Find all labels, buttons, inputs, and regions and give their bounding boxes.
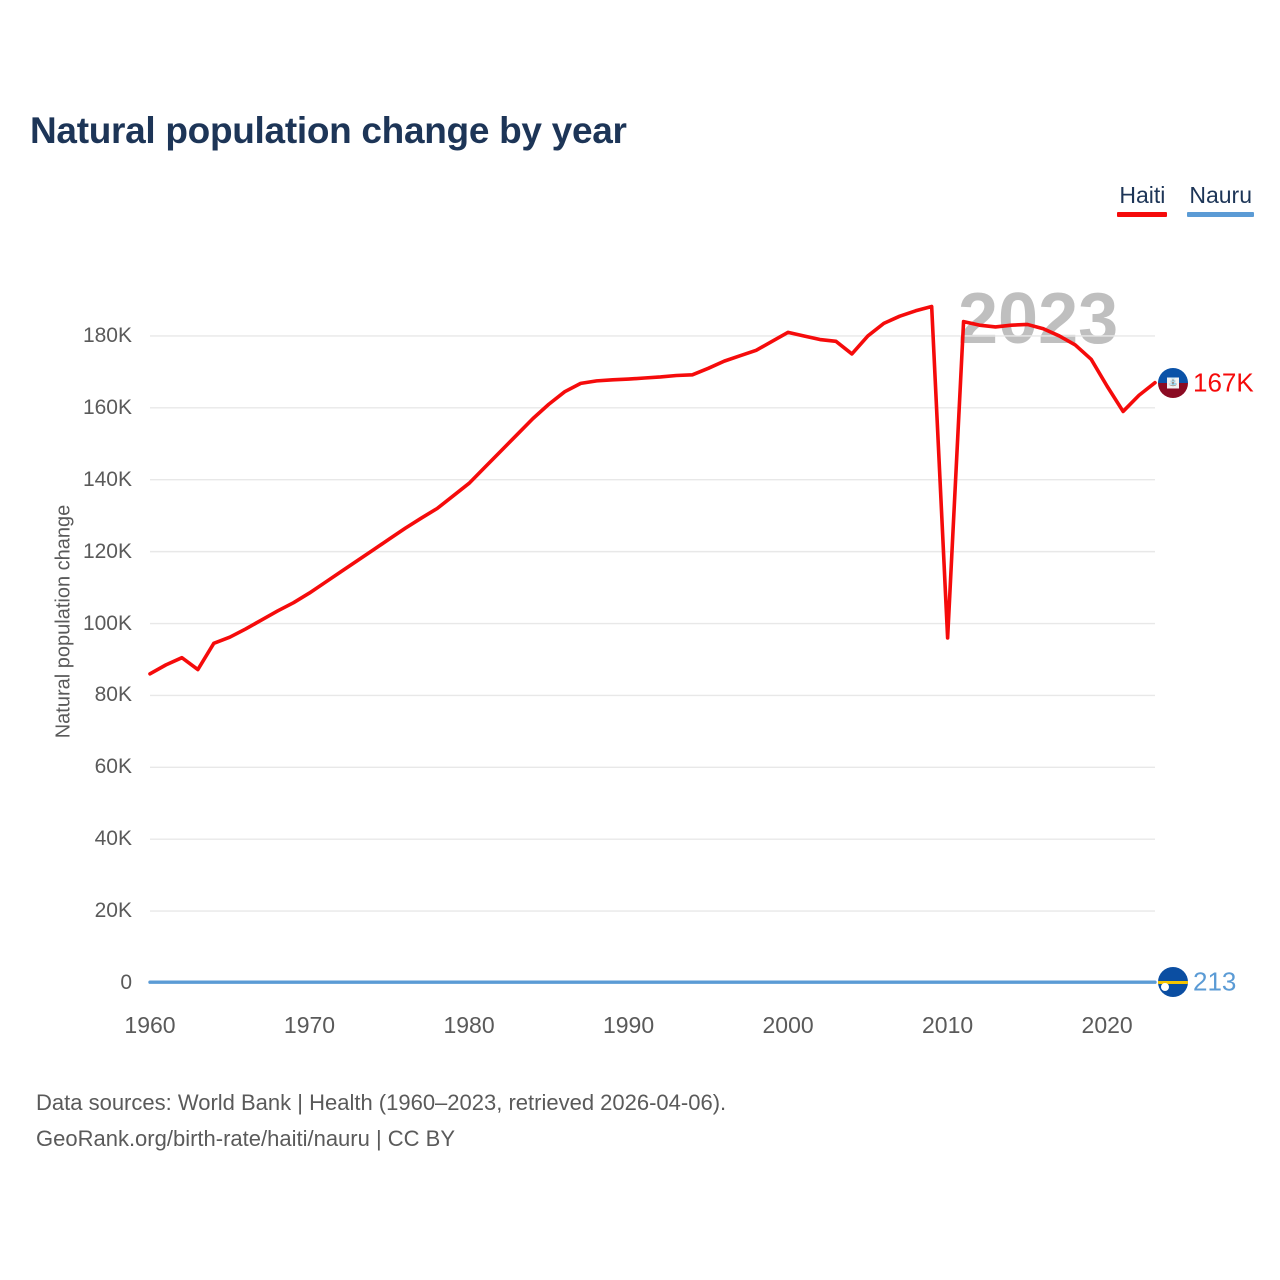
nauru-flag-star-icon [1161,983,1169,991]
page-title: Natural population change by year [30,110,627,152]
y-tick-label: 60K [42,755,132,779]
nauru-flag-icon [1158,967,1188,997]
legend-item-nauru[interactable]: Nauru [1187,182,1254,217]
x-tick-label: 1990 [579,1012,679,1039]
x-tick-label: 2020 [1057,1012,1157,1039]
y-tick-label: 180K [42,324,132,348]
nauru-endpoint-label: 213 [1193,967,1236,998]
y-tick-label: 20K [42,899,132,923]
y-tick-label: 120K [42,540,132,564]
haiti-coat-of-arms-icon: ⛲ [1167,377,1179,388]
y-tick-label: 160K [42,396,132,420]
footer: Data sources: World Bank | Health (1960–… [36,1085,726,1158]
y-tick-label: 80K [42,683,132,707]
haiti-flag-icon: ⛲ [1158,368,1188,398]
gridlines [150,336,1155,983]
haiti-endpoint-label: 167K [1193,367,1254,398]
y-tick-label: 100K [42,612,132,636]
y-tick-label: 140K [42,468,132,492]
legend-rule-nauru [1187,212,1254,217]
x-tick-label: 2010 [898,1012,998,1039]
legend-item-haiti[interactable]: Haiti [1117,182,1167,217]
x-tick-label: 1960 [100,1012,200,1039]
x-tick-label: 1970 [260,1012,360,1039]
footer-line-attribution: GeoRank.org/birth-rate/haiti/nauru | CC … [36,1121,726,1157]
series-line-haiti [150,306,1155,673]
series-lines [150,306,1155,982]
y-tick-label: 40K [42,827,132,851]
legend-label-nauru: Nauru [1187,182,1254,212]
year-watermark: 2023 [958,278,1118,360]
y-tick-label: 0 [42,971,132,995]
legend-label-haiti: Haiti [1117,182,1167,212]
x-tick-label: 1980 [419,1012,519,1039]
x-tick-label: 2000 [738,1012,838,1039]
legend-rule-haiti [1117,212,1167,217]
legend: Haiti Nauru [1117,182,1254,217]
footer-line-sources: Data sources: World Bank | Health (1960–… [36,1085,726,1121]
